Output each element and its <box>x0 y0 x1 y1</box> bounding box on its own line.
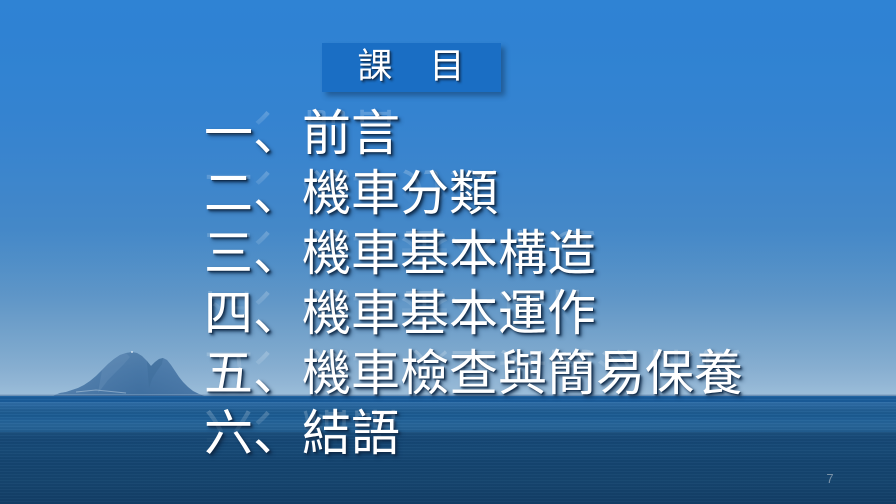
agenda-list: 一、前言 一、前言 二、機車分類 二、機車分類 三、機車基本構造 三、機車基本構… <box>204 106 844 466</box>
slide-title-box: 課 目 <box>322 43 501 92</box>
slide-title: 課 目 <box>357 50 465 85</box>
agenda-item-1-text: 一、前言 <box>204 106 400 162</box>
agenda-item-6-text: 六、結語 <box>204 406 400 462</box>
page-number: 7 <box>818 472 842 486</box>
agenda-item-3-text: 三、機車基本構造 <box>204 226 596 282</box>
agenda-item-4: 四、機車基本運作 四、機車基本運作 <box>204 286 844 346</box>
agenda-item-2-text: 二、機車分類 <box>204 166 498 222</box>
agenda-item-3: 三、機車基本構造 三、機車基本構造 <box>204 226 844 286</box>
island-silhouette <box>52 348 210 398</box>
presentation-slide: 課 目 一、前言 一、前言 二、機車分類 二、機車分類 三、機車基本構造 三、機… <box>0 0 896 504</box>
agenda-item-1: 一、前言 一、前言 <box>204 106 844 166</box>
agenda-item-4-text: 四、機車基本運作 <box>204 286 596 342</box>
agenda-item-2: 二、機車分類 二、機車分類 <box>204 166 844 226</box>
agenda-item-6: 六、結語 六、結語 <box>204 406 844 466</box>
agenda-item-5-text: 五、機車檢查與簡易保養 <box>204 346 743 402</box>
agenda-item-5: 五、機車檢查與簡易保養 五、機車檢查與簡易保養 <box>204 346 844 406</box>
